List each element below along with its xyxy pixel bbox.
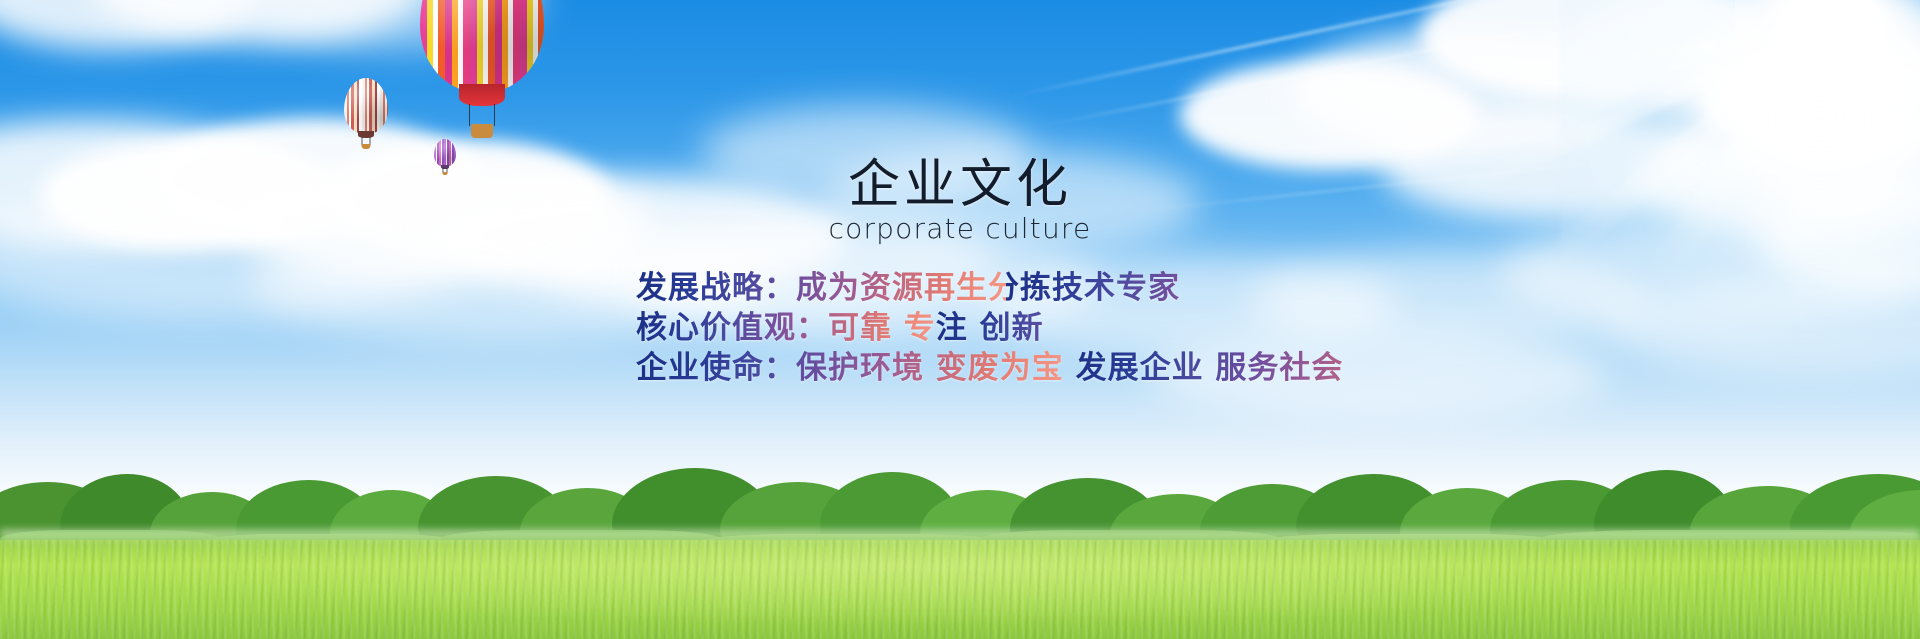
balloon-basket bbox=[471, 124, 493, 138]
page-title-cn: 企业文化 bbox=[0, 142, 1920, 217]
statement-development-strategy: 发展战略：成为资源再生分拣技术专家 bbox=[636, 268, 1343, 308]
culture-statements: 发展战略：成为资源再生分拣技术专家 核心价值观：可靠 专注 创新 企业使命：保护… bbox=[636, 268, 1343, 388]
grass-texture bbox=[0, 540, 1920, 639]
sun-icon bbox=[1735, 0, 1920, 105]
balloon-skirt bbox=[459, 84, 505, 106]
corporate-culture-banner: 企业文化 corporate culture 发展战略：成为资源再生分拣技术专家… bbox=[0, 0, 1920, 639]
statement-mission: 企业使命：保护环境 变废为宝 发展企业 服务社会 bbox=[636, 348, 1343, 388]
balloon-lines bbox=[469, 104, 495, 126]
page-title-en: corporate culture bbox=[0, 212, 1920, 245]
balloon-envelope bbox=[420, 0, 544, 92]
statement-core-values: 核心价值观：可靠 专注 创新 bbox=[636, 308, 1343, 348]
hot-air-balloon-large bbox=[420, 0, 544, 92]
grass-field bbox=[0, 540, 1920, 639]
balloon-envelope bbox=[344, 78, 388, 134]
hot-air-balloon-medium bbox=[344, 78, 388, 134]
